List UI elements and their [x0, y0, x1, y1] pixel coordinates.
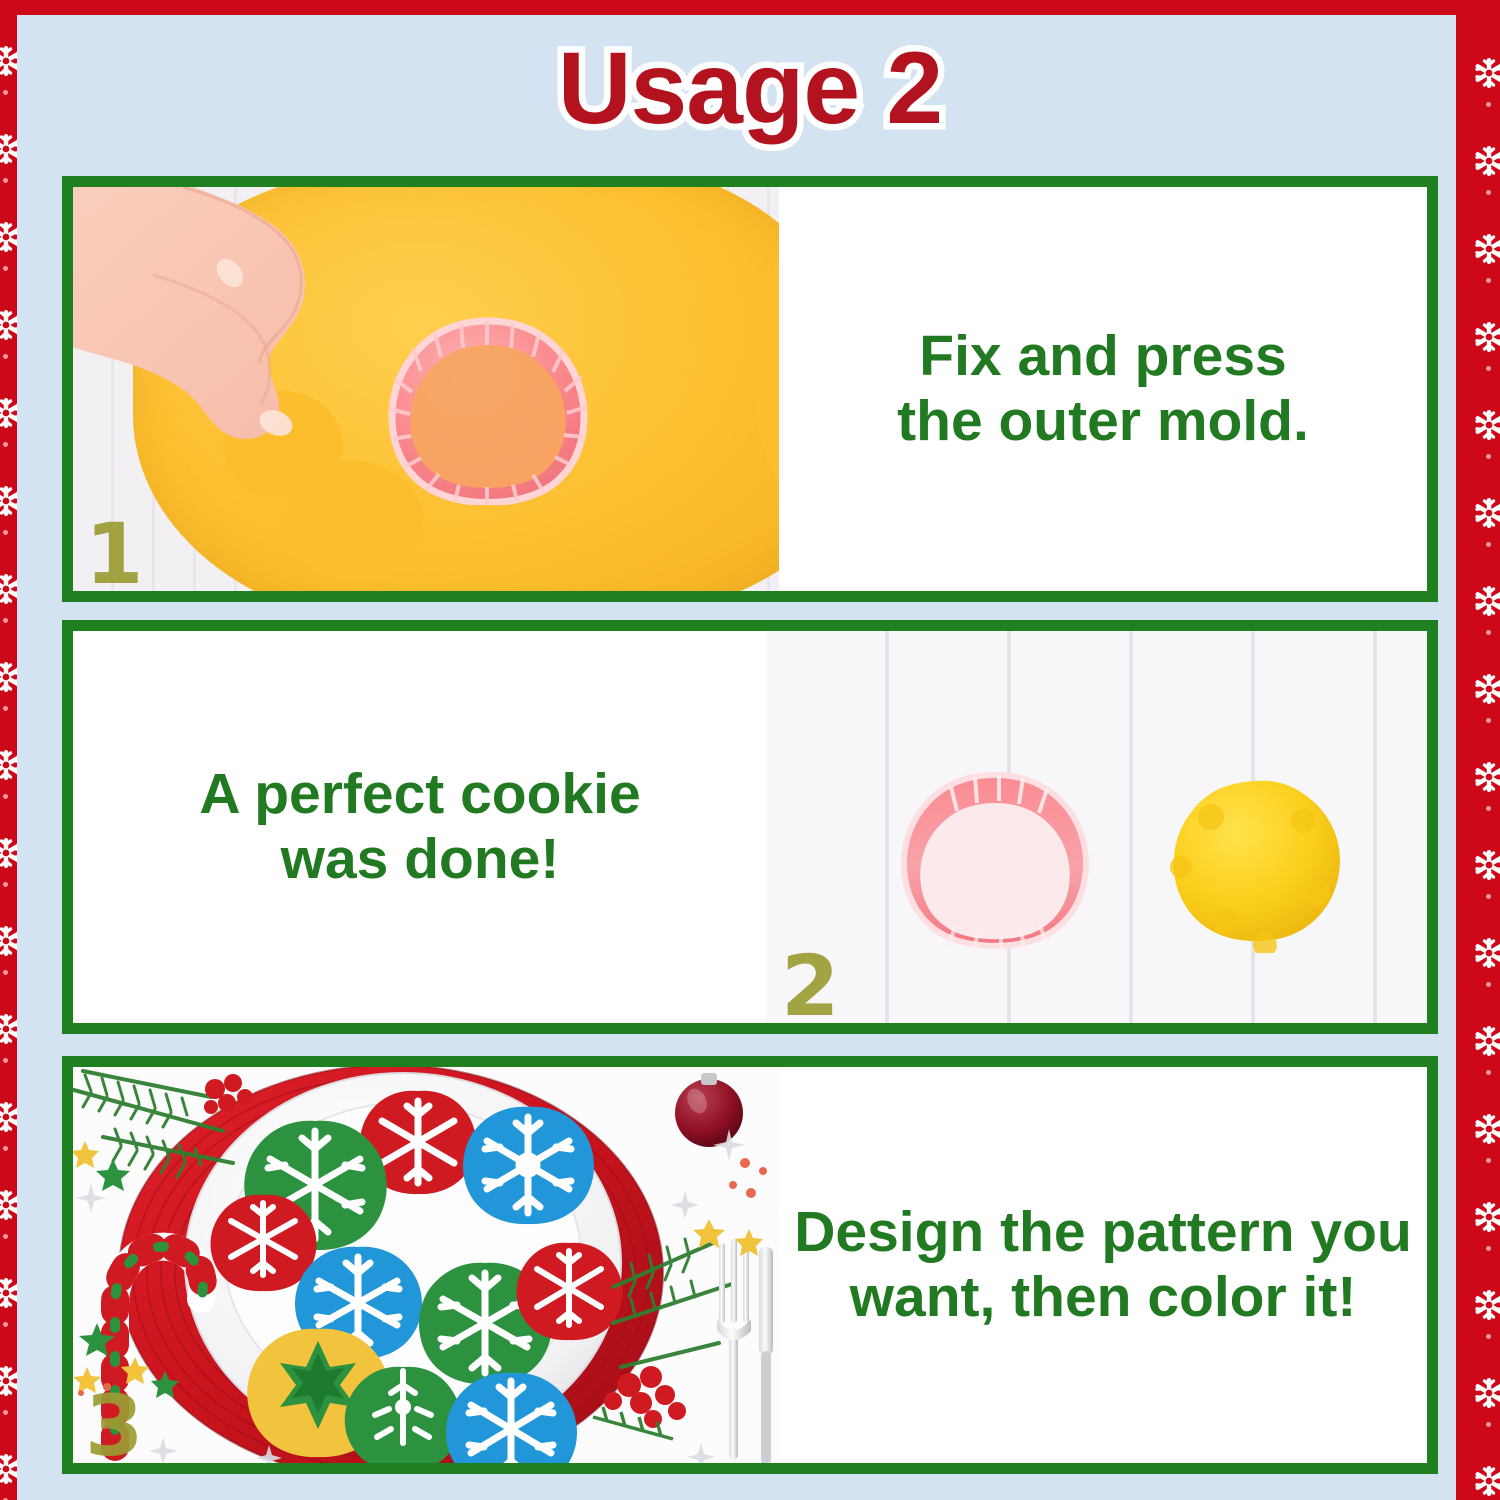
confetti-dot — [3, 1146, 8, 1151]
snowflake-icon — [0, 46, 17, 76]
caption-text: A perfect cookie was done! — [199, 762, 640, 892]
snowflake-icon — [1474, 1378, 1500, 1408]
snowflake-icon — [0, 838, 17, 868]
dough-lobe — [753, 221, 779, 521]
confetti-dot — [3, 970, 8, 975]
confetti-dot — [3, 1058, 8, 1063]
snowflake-icon — [1474, 1026, 1500, 1056]
cookie-cutter-icon — [895, 767, 1095, 967]
confetti-dot — [1486, 806, 1491, 811]
confetti-dot — [3, 1234, 8, 1239]
panel-3-caption: Design the pattern you want, then color … — [779, 1067, 1427, 1463]
snowflake-icon — [1474, 1114, 1500, 1144]
top-red-band — [0, 0, 1500, 15]
confetti-dot — [1486, 190, 1491, 195]
snowflake-icon — [0, 574, 17, 604]
step-number: 1 — [85, 505, 143, 591]
confetti-dot — [3, 354, 8, 359]
step-number: 3 — [85, 1377, 143, 1463]
right-snowflake-border — [1456, 0, 1500, 1500]
cookie-plate-scene — [73, 1067, 779, 1463]
confetti-dot — [1486, 278, 1491, 283]
confetti-dot — [1486, 718, 1491, 723]
photo-hand-pressing-cookie-cutter: 1 — [73, 187, 779, 591]
snowflake-icon — [1474, 58, 1500, 88]
confetti-dot — [3, 90, 8, 95]
left-snowflake-border — [0, 0, 17, 1500]
caption-text: Design the pattern you want, then color … — [794, 1200, 1412, 1330]
confetti-dot — [3, 1410, 8, 1415]
snowflake-icon — [1474, 850, 1500, 880]
caption-text: Fix and press the outer mold. — [897, 324, 1309, 454]
confetti-dot — [1486, 982, 1491, 987]
confetti-dot — [3, 618, 8, 623]
confetti-dot — [3, 530, 8, 535]
confetti-dot — [1486, 366, 1491, 371]
snowflake-icon — [0, 1190, 17, 1220]
usage-step-panel-1: 1 Fix and press the outer mold. — [62, 176, 1438, 602]
page-title: Usage 2 — [0, 28, 1500, 148]
snowflake-icon — [1474, 762, 1500, 792]
confetti-dot — [1486, 542, 1491, 547]
confetti-dot — [1486, 894, 1491, 899]
page-title-text: Usage 2 — [558, 37, 942, 139]
snowflake-icon — [0, 1278, 17, 1308]
confetti-dot — [3, 882, 8, 887]
cut-dough-cookie — [1167, 773, 1347, 953]
confetti-dot — [1486, 102, 1491, 107]
confetti-dot — [3, 442, 8, 447]
confetti-dot — [3, 266, 8, 271]
snowflake-icon — [1474, 674, 1500, 704]
photo-decorated-snowflake-cookies: 3 — [73, 1067, 779, 1463]
snowflake-icon — [1474, 1202, 1500, 1232]
snowflake-icon — [1474, 498, 1500, 528]
snowflake-icon — [0, 222, 17, 252]
snowflake-icon — [0, 310, 17, 340]
snowflake-icon — [0, 1454, 17, 1484]
hand-icon — [73, 187, 463, 517]
snowflake-icon — [1474, 1466, 1500, 1496]
panel-1-caption: Fix and press the outer mold. — [779, 187, 1427, 591]
snowflake-icon — [0, 662, 17, 692]
confetti-dot — [3, 794, 8, 799]
snowflake-icon — [1474, 1290, 1500, 1320]
confetti-dot — [1486, 454, 1491, 459]
snowflake-icon — [0, 1014, 17, 1044]
confetti-dot — [1486, 1422, 1491, 1427]
confetti-dot — [1486, 1158, 1491, 1163]
snowflake-icon — [1474, 146, 1500, 176]
usage-step-panel-2: A perfect cookie was done! — [62, 620, 1438, 1034]
poster-root: Usage 2 — [0, 0, 1500, 1500]
snowflake-icon — [0, 750, 17, 780]
snowflake-icon — [0, 398, 17, 428]
snowflake-icon — [0, 1102, 17, 1132]
confetti-dot — [3, 178, 8, 183]
snowflake-icon — [0, 134, 17, 164]
snowflake-icon — [0, 926, 17, 956]
snowflake-icon — [0, 1366, 17, 1396]
confetti-dot — [1486, 1246, 1491, 1251]
confetti-dot — [1486, 630, 1491, 635]
confetti-dot — [1486, 1070, 1491, 1075]
snowflake-icon — [1474, 322, 1500, 352]
photo-cutter-and-cut-dough: 2 — [767, 631, 1427, 1023]
snowflake-icon — [0, 486, 17, 516]
confetti-dot — [3, 706, 8, 711]
snowflake-icon — [1474, 234, 1500, 264]
snowflake-icon — [1474, 410, 1500, 440]
confetti-dot — [1486, 1334, 1491, 1339]
step-number: 2 — [781, 937, 839, 1023]
snowflake-icon — [1474, 938, 1500, 968]
usage-step-panel-3: 3 Design the pattern you want, then colo… — [62, 1056, 1438, 1474]
panel-2-caption: A perfect cookie was done! — [73, 631, 767, 1023]
confetti-dot — [3, 1322, 8, 1327]
snowflake-icon — [1474, 586, 1500, 616]
